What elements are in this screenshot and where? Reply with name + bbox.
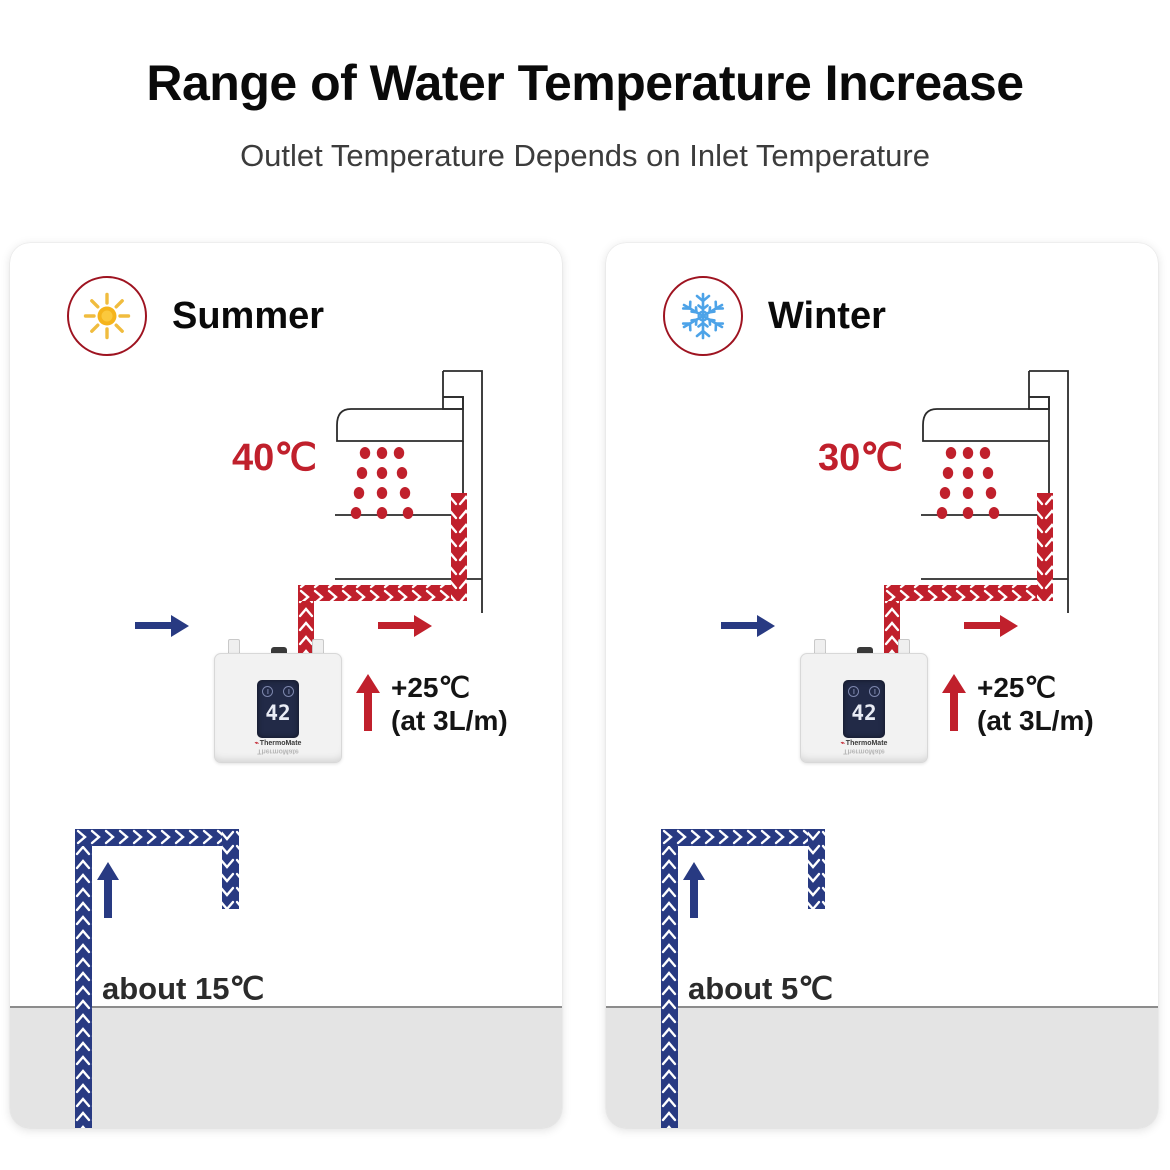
- temp-rise-flow-summer: (at 3L/m): [391, 705, 508, 738]
- season-label-summer: Summer: [172, 297, 324, 335]
- temp-rise-value-winter: +25℃: [977, 672, 1094, 705]
- power-icon: [848, 686, 859, 697]
- flow-arrow-cold-summer: [135, 613, 191, 644]
- diagram-page: Range of Water Temperature Increase Outl…: [0, 0, 1170, 1170]
- heater-body-summer: 42 ⌁ThermoMate ThermoMate: [214, 653, 342, 763]
- season-label-winter: Winter: [768, 297, 886, 335]
- outlet-temp-winter: 30℃: [818, 439, 903, 477]
- outlet-temp-summer: 40℃: [232, 439, 317, 477]
- page-title: Range of Water Temperature Increase: [0, 0, 1170, 108]
- flow-arrow-cold-winter: [721, 613, 777, 644]
- heater-display-winter[interactable]: 42: [843, 680, 885, 738]
- temp-rise-value-summer: +25℃: [391, 672, 508, 705]
- brand-reflection: ThermoMate: [801, 747, 927, 754]
- brand-text: ThermoMate: [260, 740, 302, 747]
- panel-winter: Winter 30℃: [606, 243, 1158, 1128]
- header: Range of Water Temperature Increase Outl…: [0, 0, 1170, 171]
- temp-rise-text-summer: +25℃ (at 3L/m): [391, 672, 508, 738]
- brand-text: ThermoMate: [846, 740, 888, 747]
- heater-display-summer[interactable]: 42: [257, 680, 299, 738]
- heater-body-winter: 42 ⌁ThermoMate ThermoMate: [800, 653, 928, 763]
- display-temperature-winter: 42: [843, 703, 885, 724]
- sun-icon-badge: [67, 276, 147, 356]
- rise-arrow-icon-winter: [940, 671, 968, 738]
- flow-arrow-hot-summer: [378, 613, 434, 644]
- brand-reflection: ThermoMate: [215, 747, 341, 754]
- page-subtitle: Outlet Temperature Depends on Inlet Temp…: [0, 108, 1170, 171]
- display-temperature-summer: 42: [257, 703, 299, 724]
- heater-brand-summer: ⌁ThermoMate ThermoMate: [215, 740, 341, 755]
- rise-arrow-icon-summer: [354, 671, 382, 738]
- inlet-temp-summer: about 15℃: [102, 973, 264, 1004]
- temp-rise-label-summer: +25℃ (at 3L/m): [354, 671, 508, 738]
- flow-arrow-inlet-summer: [95, 860, 121, 925]
- temp-mode-icon: [283, 686, 294, 697]
- heater-brand-winter: ⌁ThermoMate ThermoMate: [801, 740, 927, 755]
- display-status-icons: [843, 686, 885, 697]
- flow-arrow-hot-winter: [964, 613, 1020, 644]
- panel-summer: Summer 40℃: [10, 243, 562, 1128]
- snowflake-icon: [677, 290, 729, 342]
- season-header-winter: Winter: [663, 276, 886, 356]
- sun-icon: [81, 290, 133, 342]
- temp-rise-flow-winter: (at 3L/m): [977, 705, 1094, 738]
- inlet-temp-winter: about 5℃: [688, 973, 833, 1004]
- panel-container: Summer 40℃: [0, 243, 1170, 1138]
- temp-mode-icon: [869, 686, 880, 697]
- display-status-icons: [257, 686, 299, 697]
- snowflake-icon-badge: [663, 276, 743, 356]
- power-icon: [262, 686, 273, 697]
- flow-arrow-inlet-winter: [681, 860, 707, 925]
- temp-rise-text-winter: +25℃ (at 3L/m): [977, 672, 1094, 738]
- season-header-summer: Summer: [67, 276, 324, 356]
- temp-rise-label-winter: +25℃ (at 3L/m): [940, 671, 1094, 738]
